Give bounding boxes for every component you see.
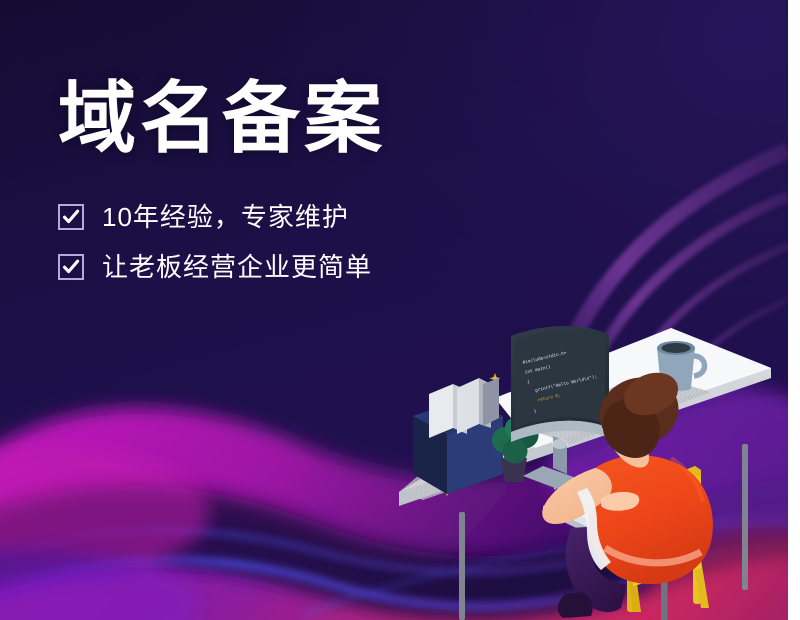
check-icon <box>58 204 84 230</box>
list-item-label: 让老板经营企业更简单 <box>102 254 372 280</box>
promo-banner: 域名备案 10年经验，专家维护 让老板经营企业更简单 <box>0 0 788 620</box>
list-item-label: 10年经验，专家维护 <box>102 204 349 230</box>
check-icon <box>58 254 84 280</box>
feature-list: 10年经验，专家维护 让老板经营企业更简单 <box>58 204 386 280</box>
page-title: 域名备案 <box>58 78 386 160</box>
list-item: 让老板经营企业更简单 <box>58 254 386 280</box>
book-organizer <box>413 378 503 494</box>
developer-at-desk-illustration: #include<stdio.h> int main() { printf("H… <box>395 316 788 620</box>
list-item: 10年经验，专家维护 <box>58 204 386 230</box>
headline-group: 域名备案 10年经验，专家维护 让老板经营企业更简单 <box>58 78 386 304</box>
